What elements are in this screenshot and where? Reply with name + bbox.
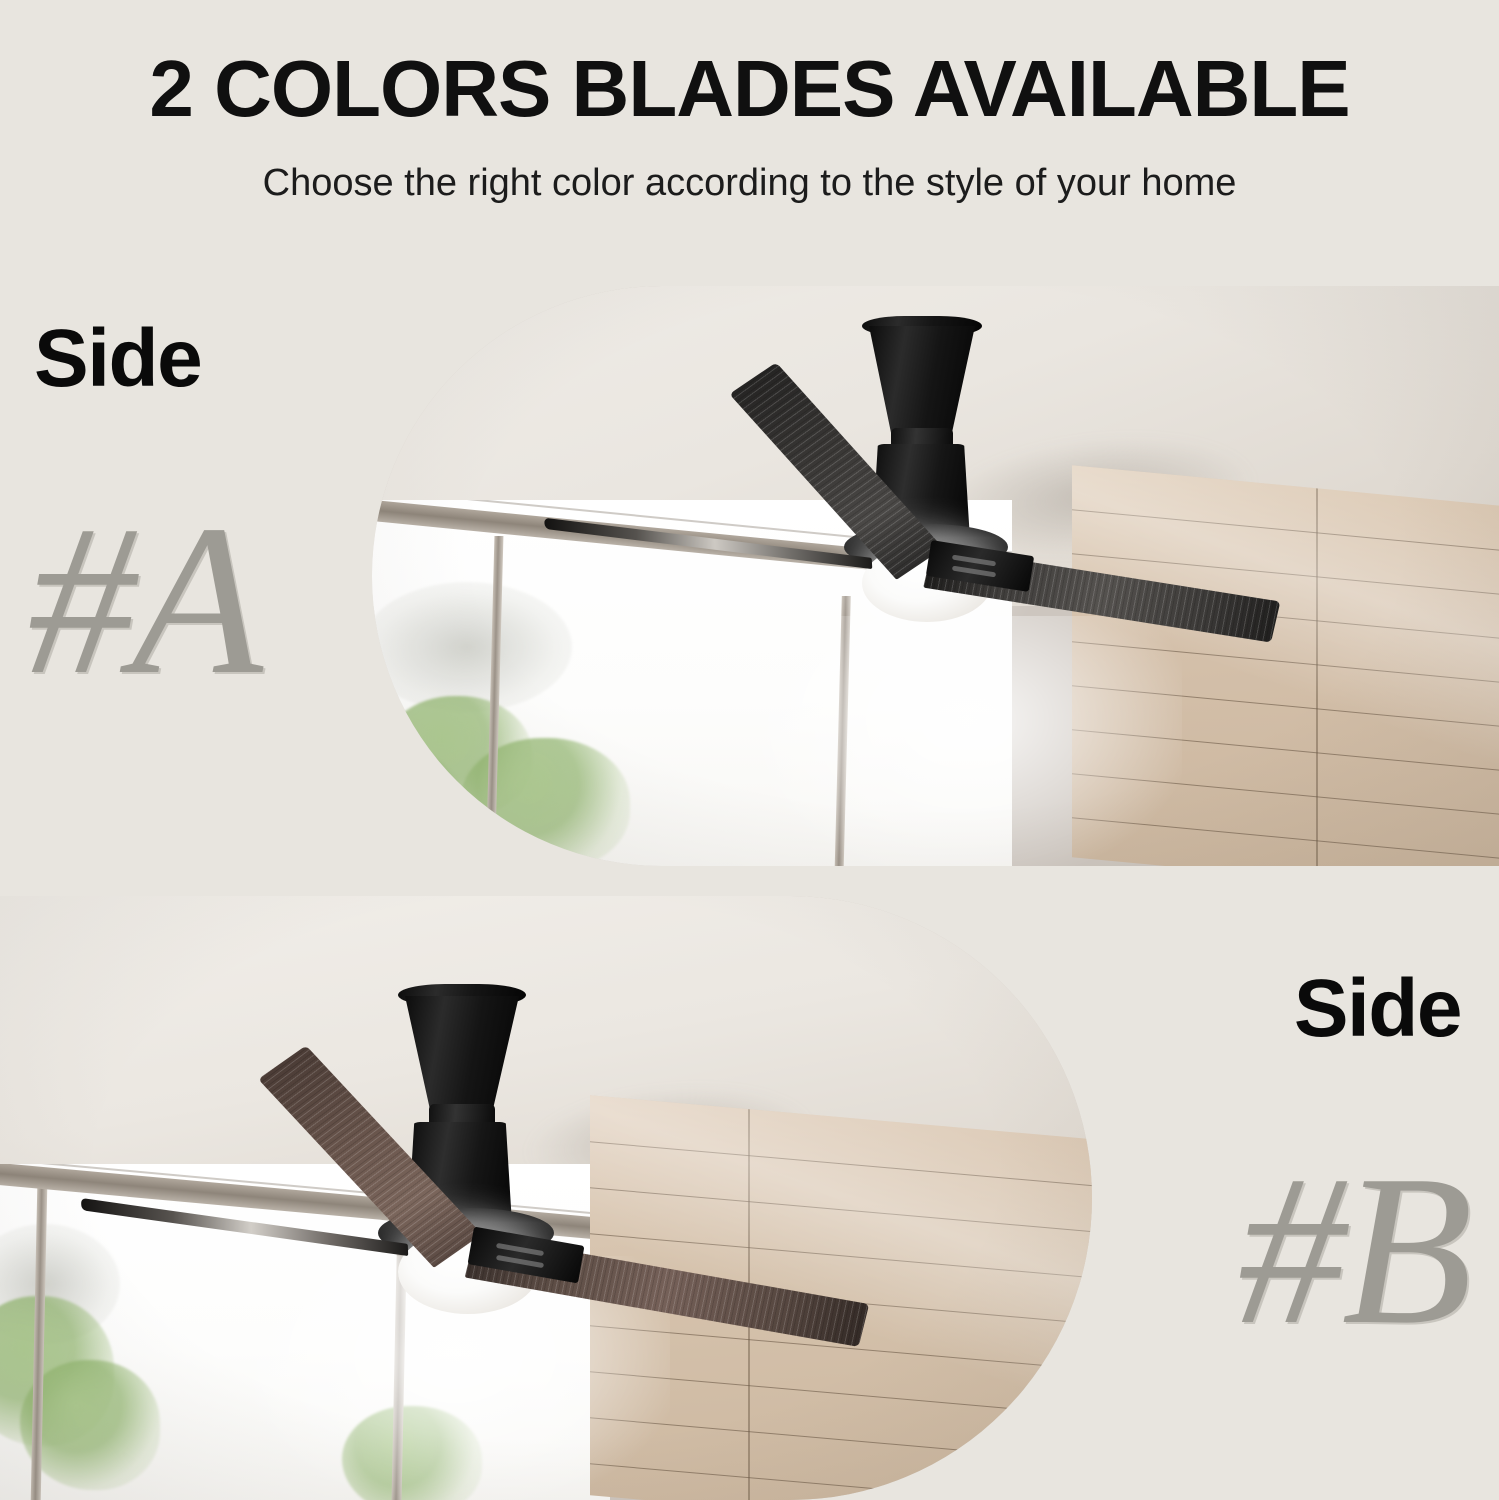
- slat-wall-seam-a: [1316, 488, 1318, 866]
- side-a-label: Side: [34, 318, 201, 400]
- tree-foliage-b-3: [342, 1406, 482, 1500]
- photo-panel-side-b: [0, 896, 1092, 1500]
- side-b-code: #B: [1238, 1142, 1469, 1357]
- photo-panel-side-a: [372, 286, 1499, 866]
- side-a-code: #A: [28, 492, 259, 707]
- room-scene-a: [372, 286, 1499, 866]
- side-b-label: Side: [1294, 968, 1461, 1050]
- room-scene-b: [0, 896, 1092, 1500]
- promo-page: 2 COLORS BLADES AVAILABLE Choose the rig…: [0, 0, 1499, 1500]
- slat-wall-a: [1072, 465, 1499, 866]
- page-title: 2 COLORS BLADES AVAILABLE: [0, 46, 1499, 132]
- page-subtitle: Choose the right color according to the …: [0, 160, 1499, 206]
